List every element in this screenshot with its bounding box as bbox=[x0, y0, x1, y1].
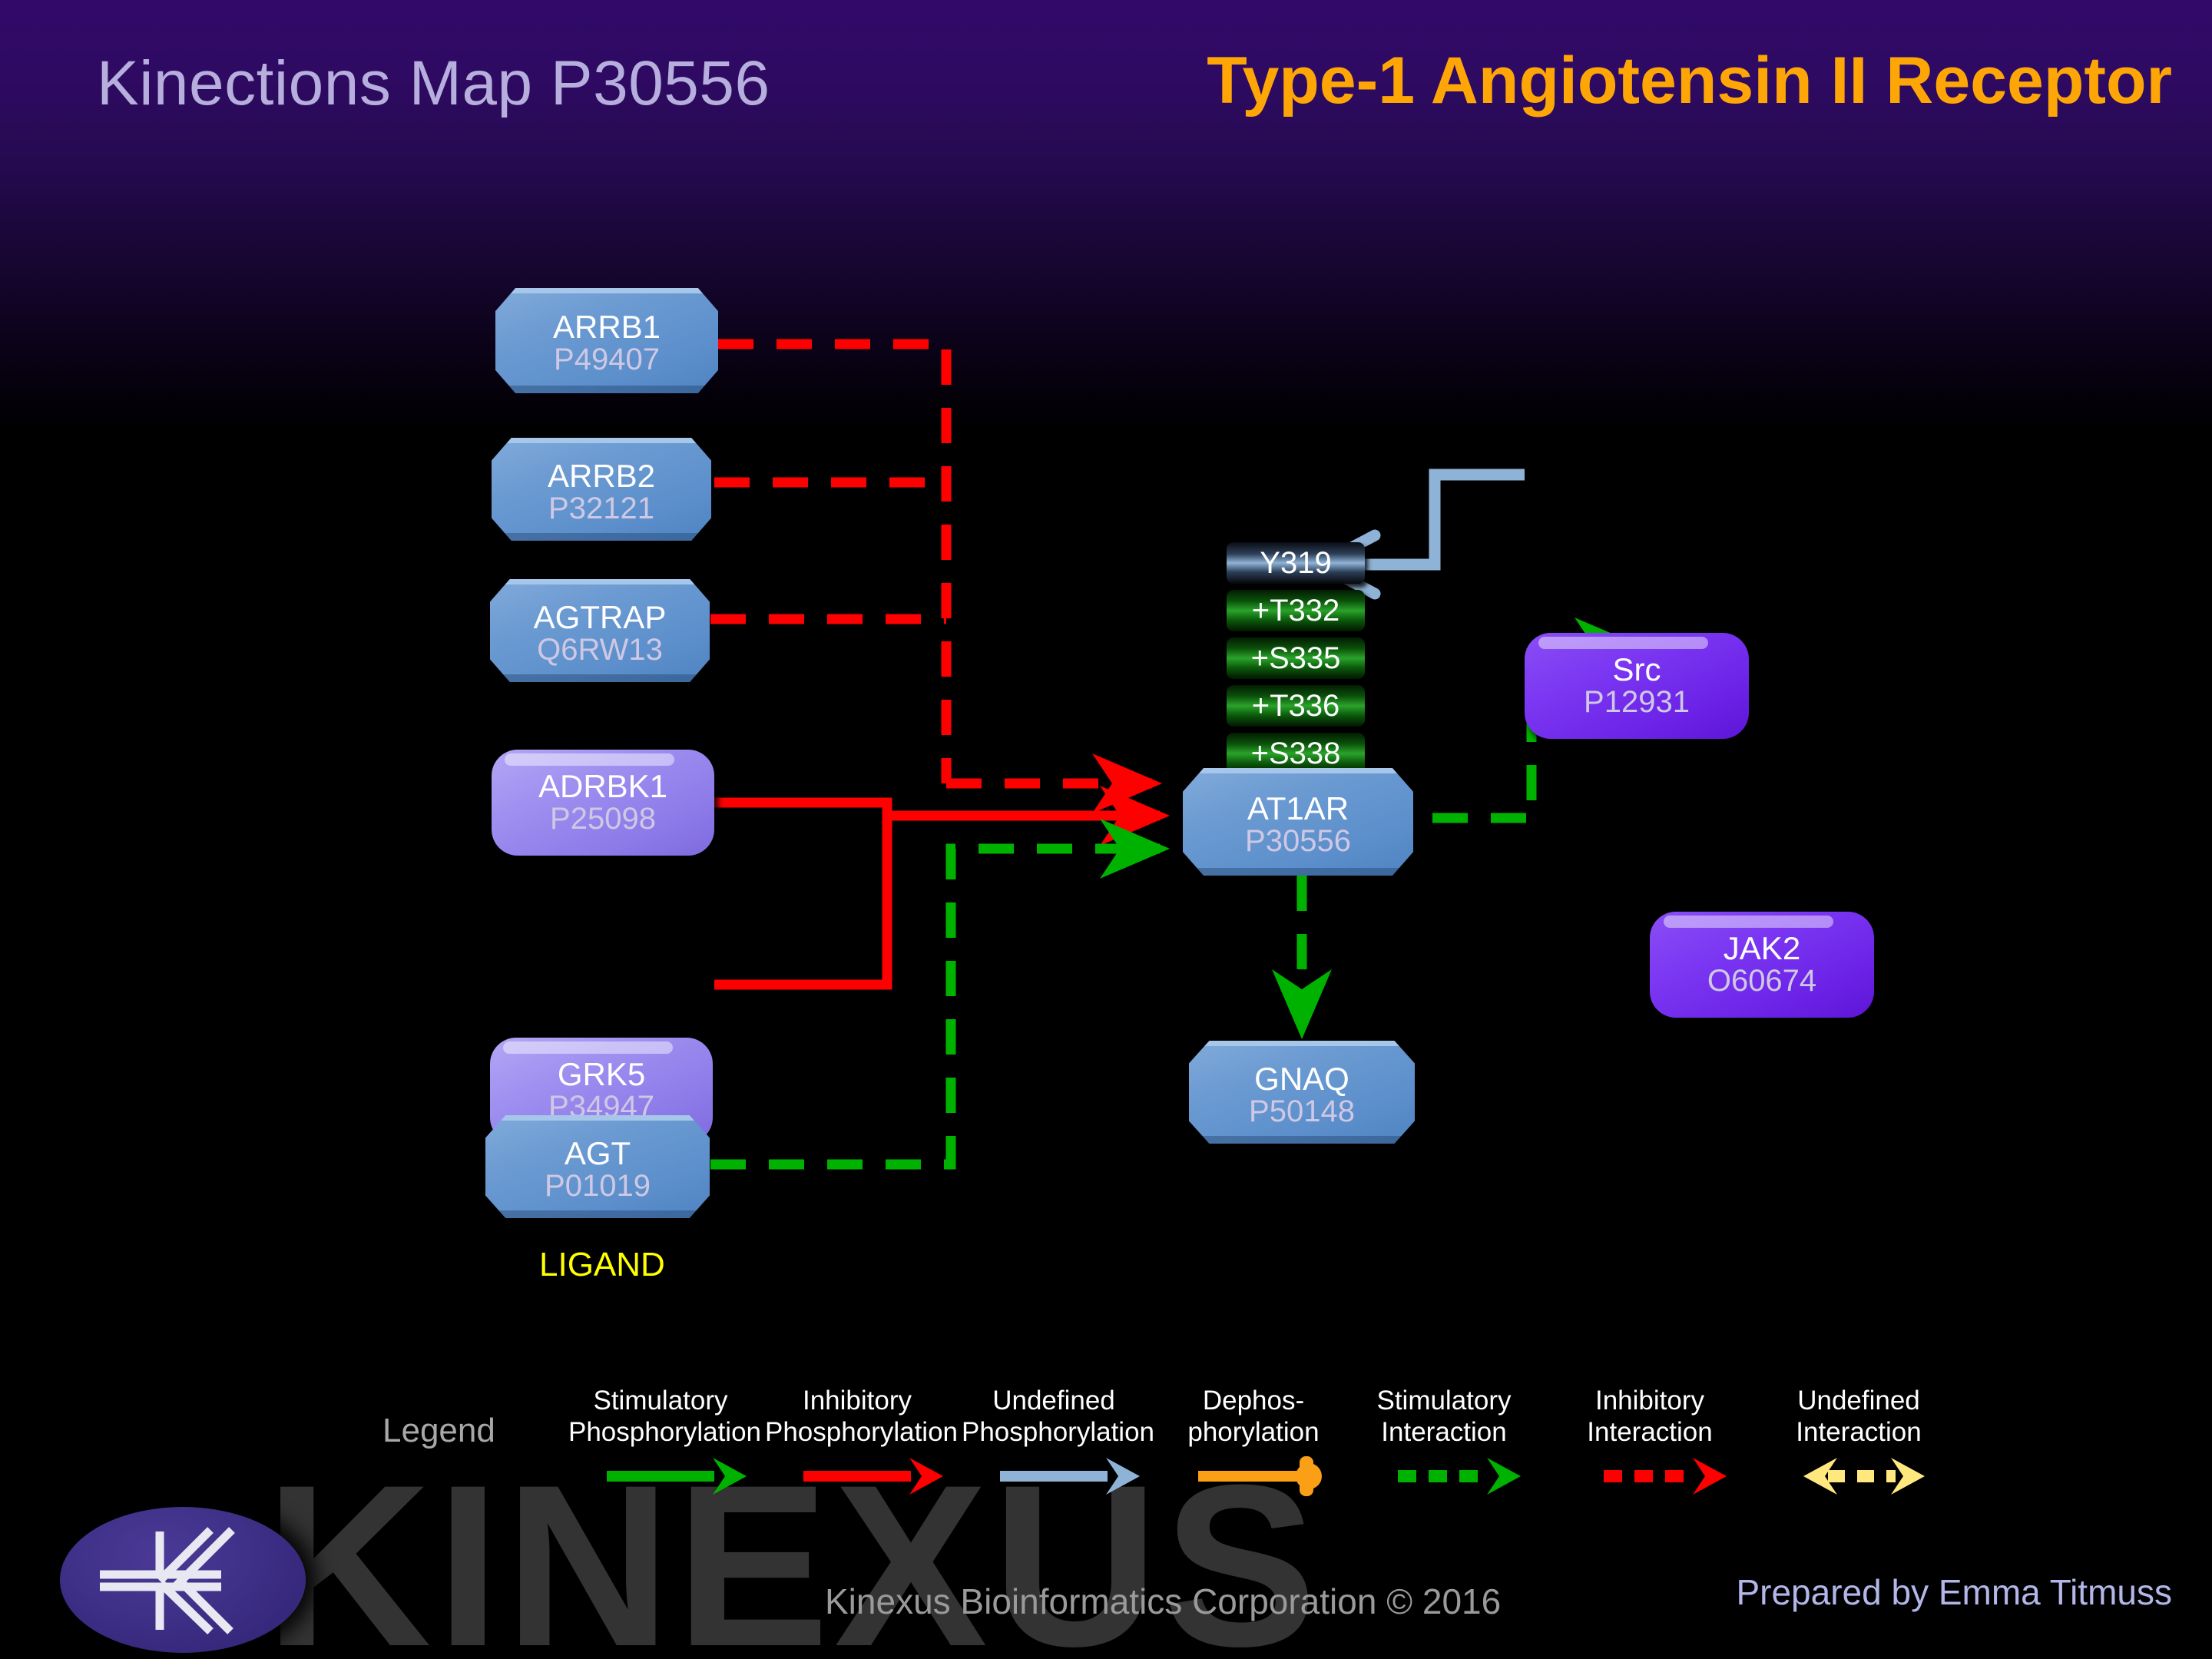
node-name: AGT bbox=[565, 1137, 631, 1171]
footer-copyright: Kinexus Bioinformatics Corporation © 201… bbox=[825, 1581, 1501, 1622]
kinexus-logo-mark bbox=[60, 1507, 306, 1653]
legend-item-label: Undefined Interaction bbox=[1767, 1385, 1951, 1449]
legend-item-stimulatory-interaction: Stimulatory Interaction bbox=[1352, 1385, 1536, 1449]
node-gnaq[interactable]: GNAQ P50148 bbox=[1189, 1041, 1415, 1144]
node-arrb2[interactable]: ARRB2 P32121 bbox=[492, 438, 711, 541]
legend-arrow-inhibitory-interaction bbox=[1604, 1458, 1727, 1495]
legend-arrow-undefined-interaction bbox=[1803, 1458, 1925, 1495]
kinexus-logo bbox=[60, 1507, 306, 1653]
edge-arrb1-at1ar bbox=[718, 344, 946, 783]
kinections-map-canvas: KINEXUS Kinections Map P30556 Type-1 Ang… bbox=[0, 0, 2212, 1659]
legend-item-label: Stimulatory Phosphorylation bbox=[568, 1385, 753, 1449]
edge-agt-at1ar bbox=[710, 849, 1160, 1164]
node-adrbk1[interactable]: ADRBK1 P25098 bbox=[492, 750, 714, 856]
ligand-label: LIGAND bbox=[539, 1246, 665, 1284]
node-accession: P12931 bbox=[1584, 687, 1690, 719]
edge-adrbk1-at1ar bbox=[714, 803, 1160, 816]
phosphosite-t336[interactable]: +T336 bbox=[1227, 685, 1365, 727]
legend-arrow-stimulatory-phosphorylation bbox=[607, 1458, 747, 1495]
legend-title: Legend bbox=[382, 1412, 495, 1450]
legend-item-label: Stimulatory Interaction bbox=[1352, 1385, 1536, 1449]
legend-arrow-undefined-phosphorylation bbox=[1000, 1458, 1140, 1495]
phosphosite-y319[interactable]: Y319 bbox=[1227, 542, 1365, 584]
node-agt[interactable]: AGT P01019 bbox=[485, 1115, 710, 1218]
node-name: GNAQ bbox=[1254, 1062, 1349, 1096]
legend-item-label: Undefined Phosphorylation bbox=[962, 1385, 1146, 1449]
node-accession: P50148 bbox=[1249, 1096, 1355, 1128]
phosphosite-label: +T336 bbox=[1252, 689, 1340, 724]
node-name: AT1AR bbox=[1247, 792, 1349, 826]
phosphosite-label: +S335 bbox=[1251, 641, 1341, 676]
phosphosite-s335[interactable]: +S335 bbox=[1227, 637, 1365, 679]
node-accession: P49407 bbox=[554, 344, 660, 376]
phosphosite-s338[interactable]: +S338 bbox=[1227, 733, 1365, 774]
node-name: Src bbox=[1613, 653, 1661, 687]
legend-arrow-stimulatory-interaction bbox=[1398, 1458, 1521, 1495]
node-accession: P30556 bbox=[1245, 826, 1351, 858]
node-jak2[interactable]: JAK2 O60674 bbox=[1650, 912, 1874, 1018]
footer-prepared-by: Prepared by Emma Titmuss bbox=[1736, 1571, 2172, 1613]
legend-item-stimulatory-phosphorylation: Stimulatory Phosphorylation bbox=[568, 1385, 753, 1449]
legend-item-inhibitory-interaction: Inhibitory Interaction bbox=[1558, 1385, 1742, 1449]
legend-item-undefined-interaction: Undefined Interaction bbox=[1767, 1385, 1951, 1449]
legend-arrow-inhibitory-phosphorylation bbox=[803, 1458, 943, 1495]
legend-item-label: Dephos- phorylation bbox=[1161, 1385, 1346, 1449]
node-accession: P01019 bbox=[545, 1171, 651, 1203]
legend-item-dephosphorylation: Dephos- phorylation bbox=[1161, 1385, 1346, 1449]
phosphosite-label: Y319 bbox=[1260, 546, 1331, 581]
node-name: GRK5 bbox=[558, 1058, 645, 1091]
node-name: ARRB2 bbox=[548, 459, 655, 493]
phosphosite-label: +S338 bbox=[1251, 737, 1341, 771]
node-at1ar[interactable]: AT1AR P30556 bbox=[1183, 768, 1413, 876]
legend-item-label: Inhibitory Interaction bbox=[1558, 1385, 1742, 1449]
phosphosite-label: +T332 bbox=[1252, 594, 1340, 628]
node-src[interactable]: Src P12931 bbox=[1525, 633, 1749, 739]
node-accession: P32121 bbox=[548, 493, 654, 525]
node-accession: Q6RW13 bbox=[537, 634, 663, 667]
node-name: ARRB1 bbox=[553, 310, 661, 344]
node-accession: P25098 bbox=[550, 803, 656, 836]
phosphosite-t332[interactable]: +T332 bbox=[1227, 590, 1365, 631]
node-name: ADRBK1 bbox=[538, 770, 667, 803]
node-name: JAK2 bbox=[1724, 932, 1800, 965]
node-accession: O60674 bbox=[1707, 965, 1816, 998]
node-agtrap[interactable]: AGTRAP Q6RW13 bbox=[490, 579, 710, 682]
legend-item-undefined-phosphorylation: Undefined Phosphorylation bbox=[962, 1385, 1146, 1449]
node-name: AGTRAP bbox=[534, 601, 667, 634]
legend-arrow-dephosphorylation bbox=[1198, 1456, 1322, 1496]
edge-grk5-at1ar bbox=[714, 816, 887, 985]
node-arrb1[interactable]: ARRB1 P49407 bbox=[495, 288, 718, 393]
legend-item-inhibitory-phosphorylation: Inhibitory Phosphorylation bbox=[765, 1385, 949, 1449]
legend-item-label: Inhibitory Phosphorylation bbox=[765, 1385, 949, 1449]
